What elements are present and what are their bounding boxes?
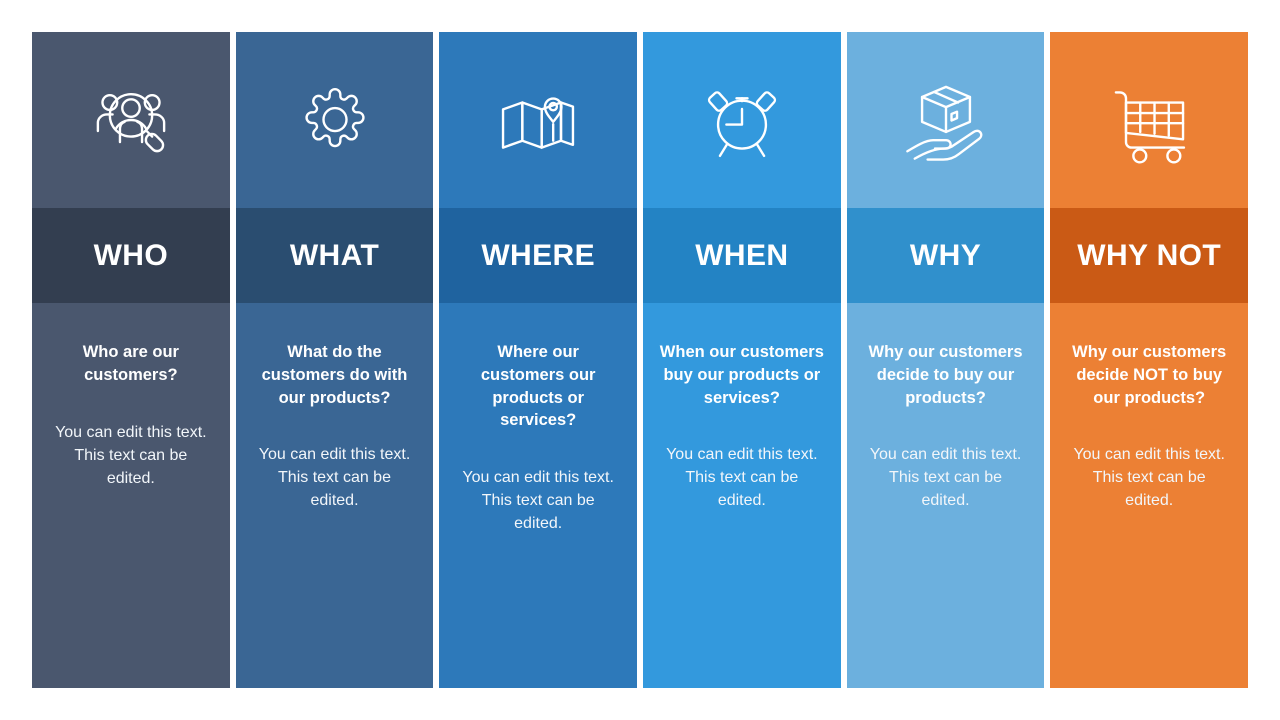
body-text-when[interactable]: You can edit this text. This text can be… [657, 443, 827, 512]
icon-panel-who [32, 32, 230, 208]
header-label-when: WHEN [695, 241, 788, 271]
body-title-why: Why our customers decide to buy our prod… [861, 341, 1031, 409]
body-text-why[interactable]: You can edit this text. This text can be… [861, 443, 1031, 512]
header-label-why: WHY [910, 241, 981, 271]
body-panel-when: When our customers buy our products or s… [643, 303, 841, 688]
icon-panel-why [847, 32, 1045, 208]
icon-panel-why-not [1050, 32, 1248, 208]
body-panel-who: Who are our customers? You can edit this… [32, 303, 230, 688]
header-label-why-not: WHY NOT [1077, 241, 1221, 271]
alarm-clock-icon [696, 74, 788, 166]
body-panel-why-not: Why our customers decide NOT to buy our … [1050, 303, 1248, 688]
header-band-why: WHY [847, 208, 1045, 303]
column-who[interactable]: WHO Who are our customers? You can edit … [32, 32, 230, 688]
body-text-why-not[interactable]: You can edit this text. This text can be… [1064, 443, 1234, 512]
header-band-when: WHEN [643, 208, 841, 303]
header-band-who: WHO [32, 208, 230, 303]
header-band-where: WHERE [439, 208, 637, 303]
body-panel-why: Why our customers decide to buy our prod… [847, 303, 1045, 688]
icon-panel-what [236, 32, 434, 208]
icon-panel-where [439, 32, 637, 208]
people-search-icon [85, 74, 177, 166]
map-pin-icon [492, 74, 584, 166]
header-band-what: WHAT [236, 208, 434, 303]
body-panel-what: What do the customers do with our produc… [236, 303, 434, 688]
shopping-cart-icon [1103, 74, 1195, 166]
body-panel-where: Where our customers our products or serv… [439, 303, 637, 688]
header-label-who: WHO [94, 241, 169, 271]
icon-panel-when [643, 32, 841, 208]
body-title-what: What do the customers do with our produc… [250, 341, 420, 409]
body-title-why-not: Why our customers decide NOT to buy our … [1064, 341, 1234, 409]
body-title-who: Who are our customers? [46, 341, 216, 387]
column-group: WHO Who are our customers? You can edit … [32, 32, 1248, 688]
body-text-who[interactable]: You can edit this text. This text can be… [46, 421, 216, 490]
header-band-why-not: WHY NOT [1050, 208, 1248, 303]
column-when[interactable]: WHEN When our customers buy our products… [643, 32, 841, 688]
body-title-where: Where our customers our products or serv… [453, 341, 623, 432]
body-text-where[interactable]: You can edit this text. This text can be… [453, 466, 623, 535]
slide-canvas: WHO Who are our customers? You can edit … [0, 0, 1280, 720]
column-why[interactable]: WHY Why our customers decide to buy our … [847, 32, 1045, 688]
column-what[interactable]: WHAT What do the customers do with our p… [236, 32, 434, 688]
column-why-not[interactable]: WHY NOT Why our customers decide NOT to … [1050, 32, 1248, 688]
package-on-hand-icon [900, 74, 992, 166]
body-title-when: When our customers buy our products or s… [657, 341, 827, 409]
body-text-what[interactable]: You can edit this text. This text can be… [250, 443, 420, 512]
header-label-what: WHAT [290, 241, 379, 271]
header-label-where: WHERE [481, 241, 595, 271]
gear-icon [289, 74, 381, 166]
column-where[interactable]: WHERE Where our customers our products o… [439, 32, 637, 688]
